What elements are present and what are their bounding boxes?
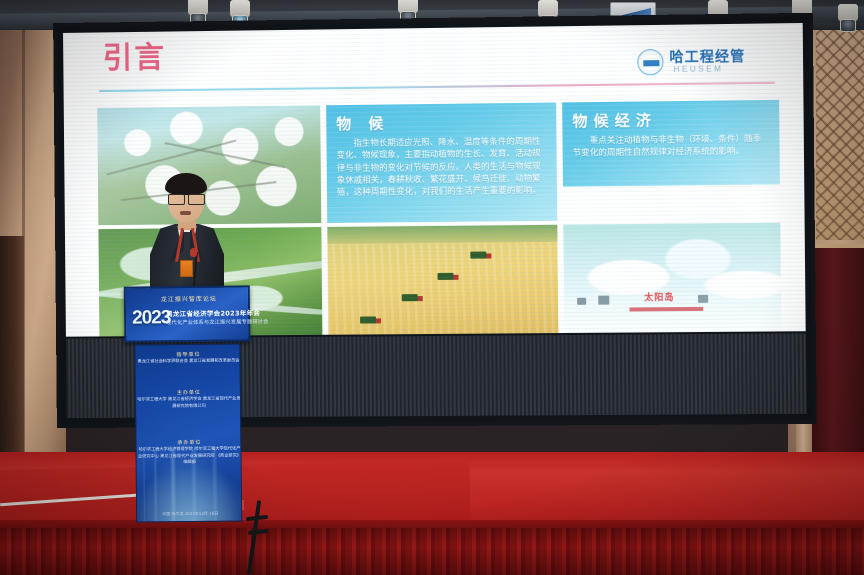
org-items: 哈尔滨工程大学 黑龙江省经济学会 黑龙江省现代产业发展研究院有限公司 xyxy=(136,395,242,409)
university-logo: 哈工程经管 HEUSEM xyxy=(637,46,759,82)
phenology-heading: 物 候 xyxy=(336,111,546,134)
title-underline xyxy=(99,82,775,92)
glasses-icon xyxy=(168,194,205,203)
lattice-frame xyxy=(808,22,864,248)
podium-kicker: 龙江振兴智库论坛 xyxy=(126,293,252,303)
ice-sign-text: 太阳岛 xyxy=(644,290,674,303)
microphone-icon xyxy=(190,248,197,257)
mouth xyxy=(180,211,191,215)
stage-skirt-shading xyxy=(0,528,864,575)
slide-title: 引言 xyxy=(103,44,166,75)
speaker-figure xyxy=(138,168,234,298)
podium-footer: 中国·哈尔滨 2023年12月·16日 xyxy=(137,510,242,517)
left-wall-recess xyxy=(0,236,24,470)
podium-lower-panel: 指导单位 黑龙江省社会科学界联合会 黑龙江省发展和改革委员会 主办单位 哈尔滨工… xyxy=(134,343,242,522)
org-block-organizer: 承办单位 哈尔滨工程大学经济管理学院 哈尔滨工程大学现代化产业研究中心 黑龙江省… xyxy=(136,438,242,466)
conference-photo-scene: 引言 哈工程经管 HEUSEM 春季：万物复苏 xyxy=(0,0,864,575)
org-items: 哈尔滨工程大学经济管理学院 哈尔滨工程大学现代化产业研究中心 黑龙江省现代产业发… xyxy=(136,445,242,466)
phenology-economy-heading: 物候经济 xyxy=(572,108,769,131)
podium-event-subtitle: 现代化产业体系与龙江振兴发展专题研讨会 xyxy=(166,318,252,326)
ice-sign-bar xyxy=(629,306,703,311)
org-block-host: 主办单位 哈尔滨工程大学 黑龙江省经济学会 黑龙江省现代产业发展研究院有限公司 xyxy=(136,388,242,409)
autumn-wheat-photo xyxy=(327,225,558,337)
phenology-panel: 物 候 指生物长期适应光照、降水、温度等条件的周期性变化、物候现象，主要指动植物… xyxy=(326,103,557,223)
podium: 龙江振兴智库论坛 2023 黑龙江省经济学会2023年年会 现代化产业体系与龙江… xyxy=(124,285,252,522)
org-block-guidance: 指导单位 黑龙江省社会科学界联合会 黑龙江省发展和改革委员会 xyxy=(135,350,241,365)
phenology-body: 指生物长期适应光照、降水、温度等条件的周期性变化、物候现象，主要指动植物的生长、… xyxy=(336,136,547,200)
podium-event-title: 黑龙江省经济学会2023年年会 xyxy=(166,307,250,318)
hair xyxy=(165,173,207,195)
logo-mark-icon xyxy=(637,49,663,75)
winter-ice-photo: 太阳岛 xyxy=(563,223,781,337)
logo-name-en: HEUSEM xyxy=(674,64,724,74)
phenology-economy-panel: 物候经济 重点关注动植物与非生物（环境、条件）随季节变化的周期性自然规律对经济系… xyxy=(562,100,780,187)
podium-banner: 龙江振兴智库论坛 2023 黑龙江省经济学会2023年年会 现代化产业体系与龙江… xyxy=(124,285,251,342)
spotlight-icon xyxy=(186,0,210,28)
spotlight-icon xyxy=(836,4,860,34)
org-items: 黑龙江省社会科学界联合会 黑龙江省发展和改革委员会 xyxy=(136,357,242,365)
phenology-economy-body: 重点关注动植物与非生物（环境、条件）随季节变化的周期性自然规律对经济系统的影响。 xyxy=(573,133,770,160)
name-badge xyxy=(180,260,193,277)
podium-year: 2023 xyxy=(132,308,170,327)
